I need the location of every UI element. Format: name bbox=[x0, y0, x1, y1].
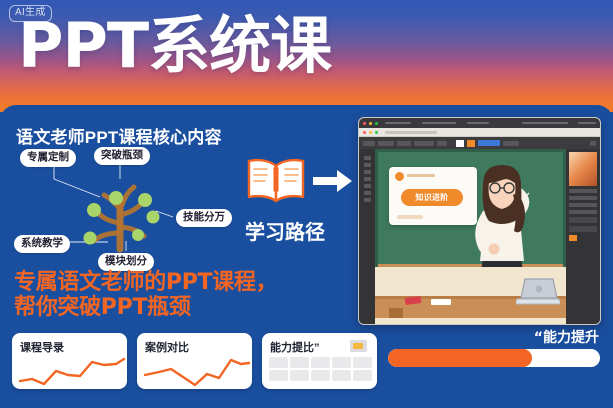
learning-path-icons bbox=[245, 150, 357, 212]
sparkline-chart bbox=[137, 353, 252, 387]
tab-dot-icon[interactable] bbox=[363, 131, 366, 134]
layer-row[interactable] bbox=[569, 217, 597, 223]
classroom-wall bbox=[375, 267, 566, 325]
tool-icon[interactable] bbox=[364, 156, 371, 160]
app-toolbar[interactable] bbox=[359, 137, 600, 149]
titlebar-text bbox=[422, 122, 456, 124]
tool-button[interactable] bbox=[437, 141, 447, 146]
slide-footer-text bbox=[397, 215, 423, 219]
layer-row[interactable] bbox=[569, 226, 597, 232]
progress-label: “能力提升 bbox=[534, 327, 599, 347]
content-panel: 语文老师PPT课程核心内容 bbox=[0, 105, 613, 408]
color-picker[interactable] bbox=[569, 152, 597, 186]
tab-dot-icon[interactable] bbox=[369, 131, 372, 134]
arrow-right-icon bbox=[313, 168, 353, 194]
app-canvas-body: 知识进阶 bbox=[359, 149, 600, 325]
grid-block bbox=[269, 357, 288, 368]
metric-cards: 课程导录 案例对比 能力提比” bbox=[12, 333, 377, 389]
ai-generated-badge: AI生成 bbox=[9, 5, 52, 22]
tab-label bbox=[385, 131, 437, 134]
panel-row bbox=[569, 189, 597, 193]
titlebar-text bbox=[522, 122, 568, 124]
learning-path-block: 学习路径 bbox=[245, 150, 357, 245]
window-close-icon[interactable] bbox=[363, 122, 366, 125]
panel-row bbox=[569, 203, 597, 207]
grid-block bbox=[353, 370, 372, 381]
titlebar-text bbox=[385, 122, 411, 124]
desk-leg bbox=[389, 308, 403, 318]
page-title: PPT系统课 bbox=[18, 8, 331, 84]
window-maximize-icon[interactable] bbox=[375, 122, 378, 125]
progress-chip bbox=[478, 140, 500, 146]
tab-dot-icon[interactable] bbox=[375, 131, 378, 134]
card-title: 能力提比” bbox=[270, 339, 320, 355]
tool-icon[interactable] bbox=[364, 163, 371, 167]
tool-button[interactable] bbox=[590, 141, 596, 146]
tool-button[interactable] bbox=[503, 141, 519, 146]
slide-logo-icon bbox=[395, 172, 404, 181]
app-titlebar bbox=[359, 118, 600, 128]
grid-block bbox=[290, 357, 309, 368]
grid-block bbox=[269, 370, 288, 381]
app-left-toolbar[interactable] bbox=[359, 149, 375, 325]
tree-label-3: 系统教学 bbox=[14, 235, 70, 253]
tree-label-1: 突破瓶颈 bbox=[94, 147, 150, 165]
tool-button[interactable] bbox=[363, 141, 375, 146]
progress-bar[interactable] bbox=[388, 349, 600, 367]
design-app-window: 知识进阶 bbox=[358, 117, 601, 325]
tree-label-4: 模块划分 bbox=[98, 253, 154, 271]
card-course-index[interactable]: 课程导录 bbox=[12, 333, 127, 389]
window-minimize-icon[interactable] bbox=[369, 122, 372, 125]
learning-path-label: 学习路径 bbox=[245, 216, 357, 245]
slide-badge: 知识进阶 bbox=[401, 189, 463, 206]
tool-icon[interactable] bbox=[364, 170, 371, 174]
app-tabbar[interactable] bbox=[359, 128, 600, 137]
classroom-illustration: 知识进阶 bbox=[375, 149, 566, 325]
card-case-comparison[interactable]: 案例对比 bbox=[137, 333, 252, 389]
tree-label-2: 技能分万 bbox=[176, 209, 232, 227]
grid-block bbox=[311, 370, 330, 381]
tool-button[interactable] bbox=[414, 141, 434, 146]
paper-stack bbox=[431, 299, 451, 305]
app-right-panel[interactable] bbox=[566, 149, 600, 325]
slide-logo-text bbox=[407, 174, 435, 177]
titlebar-text bbox=[578, 122, 596, 124]
tool-icon[interactable] bbox=[364, 184, 371, 188]
swatch-orange[interactable] bbox=[467, 140, 475, 147]
tool-icon[interactable] bbox=[364, 198, 371, 202]
promo-headline-line1: 专属语文老师的PPT课程， bbox=[14, 270, 277, 295]
tree-label-0: 专属定制 bbox=[20, 149, 76, 167]
header-banner: AI生成 PPT系统课 bbox=[0, 0, 613, 112]
titlebar-text bbox=[467, 122, 489, 124]
open-book-icon bbox=[245, 155, 307, 207]
progress-bar-fill bbox=[388, 349, 532, 367]
layer-color-chip[interactable] bbox=[569, 235, 577, 241]
panel-row bbox=[569, 196, 597, 200]
laptop-icon bbox=[516, 276, 560, 306]
swatch-white[interactable] bbox=[456, 140, 464, 147]
placeholder-grid bbox=[269, 357, 372, 381]
grid-block bbox=[311, 357, 330, 368]
promo-headline: 专属语文老师的PPT课程， 帮你突破PPT瓶颈 bbox=[14, 270, 277, 320]
promo-headline-line2: 帮你突破PPT瓶颈 bbox=[14, 295, 277, 320]
grid-block bbox=[332, 370, 351, 381]
grid-block bbox=[332, 357, 351, 368]
tool-icon[interactable] bbox=[364, 191, 371, 195]
tool-icon[interactable] bbox=[364, 177, 371, 181]
card-ability-comparison[interactable]: 能力提比” bbox=[262, 333, 377, 389]
tool-button[interactable] bbox=[397, 141, 411, 146]
image-placeholder-icon bbox=[350, 340, 367, 352]
knowledge-tree-diagram: 专属定制 突破瓶颈 技能分万 系统教学 模块划分 bbox=[8, 145, 246, 255]
sparkline-chart bbox=[12, 353, 127, 387]
tool-button[interactable] bbox=[378, 141, 394, 146]
grid-block bbox=[290, 370, 309, 381]
grid-block bbox=[353, 357, 372, 368]
panel-row bbox=[569, 210, 597, 214]
